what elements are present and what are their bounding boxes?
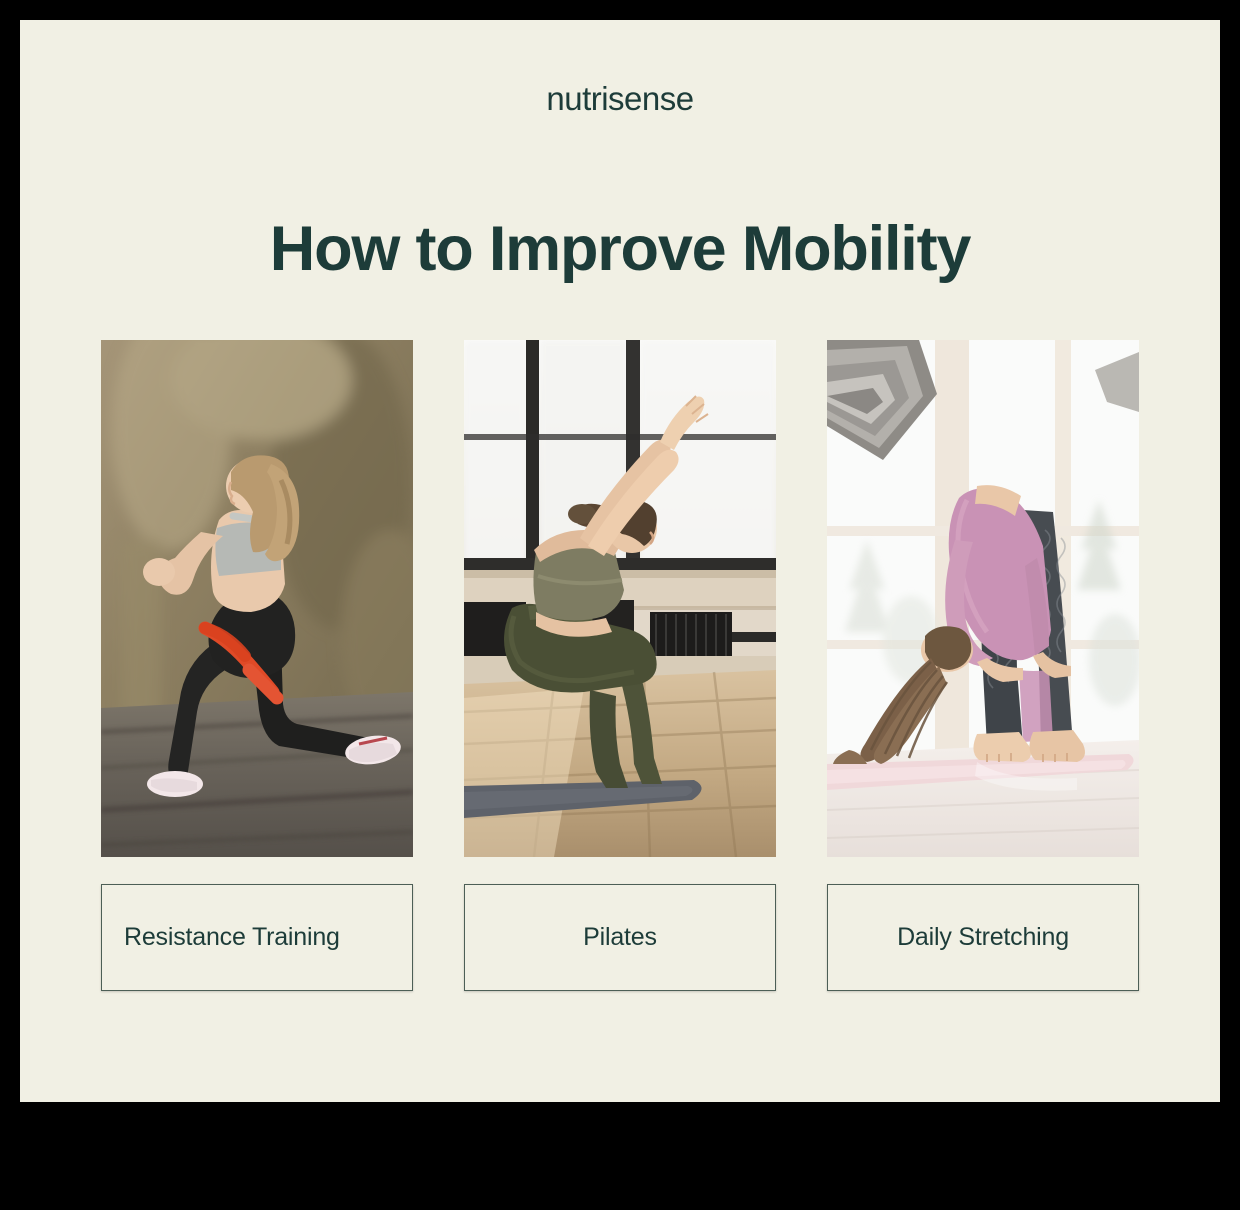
label-box-daily-stretching[interactable]: Daily Stretching [827, 884, 1139, 991]
mobility-card-daily-stretching[interactable]: Daily Stretching [827, 340, 1139, 991]
poster-canvas: nutrisense How to Improve Mobility [20, 20, 1220, 1102]
mobility-card-pilates[interactable]: Pilates [464, 340, 776, 991]
label-text-resistance-training: Resistance Training [102, 923, 412, 952]
label-box-pilates[interactable]: Pilates [464, 884, 776, 991]
brand-logo: nutrisense [20, 80, 1220, 118]
mobility-cards-row: Resistance Training [101, 340, 1139, 991]
photo-resistance-training [101, 340, 413, 857]
photo-daily-stretching [827, 340, 1139, 857]
page-title: How to Improve Mobility [20, 216, 1220, 282]
photo-pilates [464, 340, 776, 857]
label-text-pilates: Pilates [573, 923, 667, 952]
label-text-daily-stretching: Daily Stretching [887, 923, 1079, 952]
mobility-card-resistance-training[interactable]: Resistance Training [101, 340, 413, 991]
label-box-resistance-training[interactable]: Resistance Training [101, 884, 413, 991]
